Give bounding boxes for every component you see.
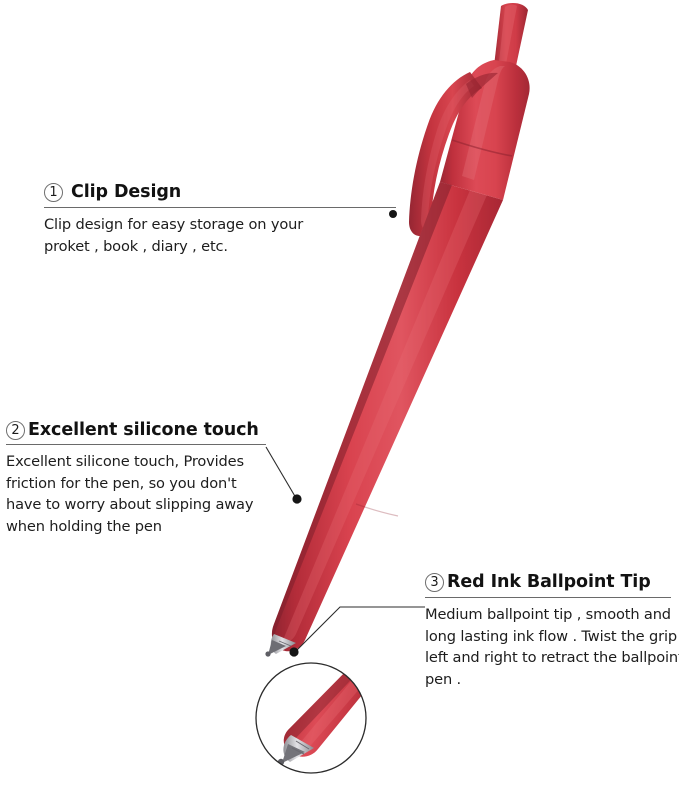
- callout-3-number-badge: 3: [425, 573, 444, 592]
- callout-2-body: Excellent silicone touch, Provides frict…: [6, 451, 266, 537]
- callout-clip-design: 1 Clip Design Clip design for easy stora…: [44, 182, 396, 257]
- callout-2-number-badge: 2: [6, 421, 25, 440]
- leader-dots: [289, 210, 397, 657]
- callout-1-body: Clip design for easy storage on your pro…: [44, 214, 396, 257]
- callout-2-line-3: have to worry about slipping away: [6, 494, 266, 516]
- callout-1-line-1: Clip design for easy storage on your: [44, 214, 396, 236]
- callout-3-line-3: left and right to retract the ballpoint: [425, 647, 679, 669]
- callout-1-title: Clip Design: [71, 182, 181, 202]
- callout-2-line-4: when holding the pen: [6, 516, 266, 538]
- callout-2-line-2: friction for the pen, so you don't: [6, 473, 266, 495]
- callout-3-header: 3 Red Ink Ballpoint Tip: [425, 572, 679, 592]
- callout-3-body: Medium ballpoint tip , smooth and long l…: [425, 604, 679, 690]
- pen-cap-section: [440, 60, 530, 200]
- pen-tip: [265, 628, 303, 657]
- callout-2-header: 2 Excellent silicone touch: [6, 420, 266, 440]
- callout-1-line-2: proket , book , diary , etc.: [44, 236, 396, 258]
- callout-3-line-4: pen .: [425, 669, 679, 691]
- pen-clip: [409, 72, 498, 236]
- callout-1-divider: [44, 207, 396, 208]
- callout-3-divider: [425, 597, 671, 598]
- callout-ballpoint-tip: 3 Red Ink Ballpoint Tip Medium ballpoint…: [425, 572, 679, 690]
- leader-lines: [266, 214, 425, 651]
- infographic-canvas: 1 Clip Design Clip design for easy stora…: [0, 0, 679, 785]
- callout-silicone-touch: 2 Excellent silicone touch Excellent sil…: [6, 420, 266, 537]
- leader-dot-grip: [292, 494, 301, 503]
- pen-plunger-button: [494, 3, 528, 72]
- callout-1-number-badge: 1: [44, 183, 63, 202]
- callout-2-title: Excellent silicone touch: [28, 420, 259, 440]
- callout-2-divider: [6, 444, 266, 445]
- callout-3-line-1: Medium ballpoint tip , smooth and: [425, 604, 679, 626]
- callout-3-title: Red Ink Ballpoint Tip: [447, 572, 651, 592]
- callout-3-line-2: long lasting ink flow . Twist the grip: [425, 626, 679, 648]
- magnifier-detail: [250, 657, 384, 782]
- callout-1-header: 1 Clip Design: [44, 182, 396, 202]
- leader-dot-tip: [289, 647, 298, 656]
- callout-2-line-1: Excellent silicone touch, Provides: [6, 451, 266, 473]
